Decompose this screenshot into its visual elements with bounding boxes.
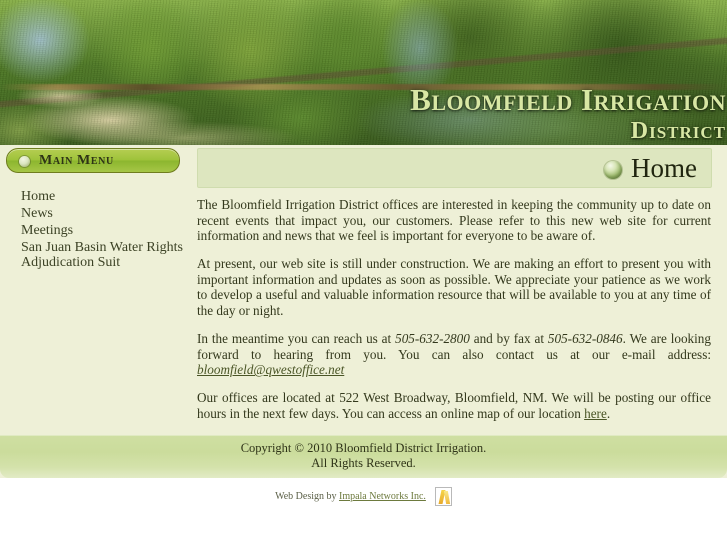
page-title-inner: Home [604, 153, 697, 183]
main-menu-title: Main Menu [39, 153, 114, 169]
site-banner: Bloomfield Irrigation District [0, 0, 727, 145]
page-title: Home [631, 153, 697, 183]
sidebar-link-meetings[interactable]: Meetings [21, 223, 186, 240]
sidebar-item-meetings[interactable]: Meetings [21, 223, 186, 240]
phone-number: 505-632-2800 [395, 331, 470, 346]
credit-wrap: Web Design by Impala Networks Inc. [275, 487, 452, 506]
site-subtitle: District [410, 119, 727, 143]
sidebar-item-home[interactable]: Home [21, 189, 186, 206]
sidebar-link-san-juan-basin-water-rights[interactable]: San Juan Basin Water Rights Adjudication… [21, 240, 186, 272]
site-footer: Copyright © 2010 Bloomfield District Irr… [0, 435, 727, 478]
paragraph-under-construction: At present, our web site is still under … [197, 256, 711, 318]
location-text-1: Our offices are located at 522 West Broa… [197, 390, 711, 421]
web-design-credit: Web Design by Impala Networks Inc. [0, 487, 727, 506]
site-wordmark: Bloomfield Irrigation District [410, 84, 727, 143]
sidebar-item-san-juan-basin-water-rights[interactable]: San Juan Basin Water Rights Adjudication… [21, 240, 186, 272]
copyright-line-1: Copyright © 2010 Bloomfield District Irr… [0, 441, 727, 456]
paragraph-contact: In the meantime you can reach us at 505-… [197, 331, 711, 378]
map-link[interactable]: here [584, 406, 607, 421]
paragraph-intro: The Bloomfield Irrigation District offic… [197, 197, 711, 244]
sidebar-link-home[interactable]: Home [21, 189, 186, 206]
article-body: The Bloomfield Irrigation District offic… [197, 197, 711, 422]
email-link[interactable]: bloomfield@qwestoffice.net [197, 362, 344, 377]
paragraph-location: Our offices are located at 522 West Broa… [197, 390, 711, 421]
page-title-box: Home [197, 148, 712, 188]
content-area: Main Menu Home News Meetings San Juan Ba… [0, 145, 727, 435]
sidebar-item-news[interactable]: News [21, 206, 186, 223]
sphere-globe-icon [604, 161, 622, 179]
fax-number: 505-632-0846 [548, 331, 623, 346]
contact-text-2: and by fax at [470, 331, 548, 346]
sidebar: Main Menu Home News Meetings San Juan Ba… [0, 145, 190, 435]
location-text-2: . [607, 406, 610, 421]
copyright-line-2: All Rights Reserved. [0, 456, 727, 471]
contact-text-1: In the meantime you can reach us at [197, 331, 395, 346]
impala-networks-logo-icon[interactable] [435, 487, 452, 506]
credit-prefix-text: Web Design by [275, 491, 339, 502]
credit-prefix: Web Design by Impala Networks Inc. [275, 491, 426, 502]
site-container: Bloomfield Irrigation District Main Menu… [0, 0, 727, 478]
page-root: Bloomfield Irrigation District Main Menu… [0, 0, 727, 545]
copyright-block: Copyright © 2010 Bloomfield District Irr… [0, 441, 727, 470]
impala-networks-link[interactable]: Impala Networks Inc. [339, 491, 426, 502]
sphere-bullet-icon [19, 156, 30, 167]
sidebar-link-news[interactable]: News [21, 206, 186, 223]
main-column: Home The Bloomfield Irrigation District … [190, 145, 727, 435]
main-menu-list: Home News Meetings San Juan Basin Water … [21, 189, 186, 272]
site-title: Bloomfield Irrigation [410, 84, 727, 115]
main-menu-header: Main Menu [6, 148, 180, 173]
